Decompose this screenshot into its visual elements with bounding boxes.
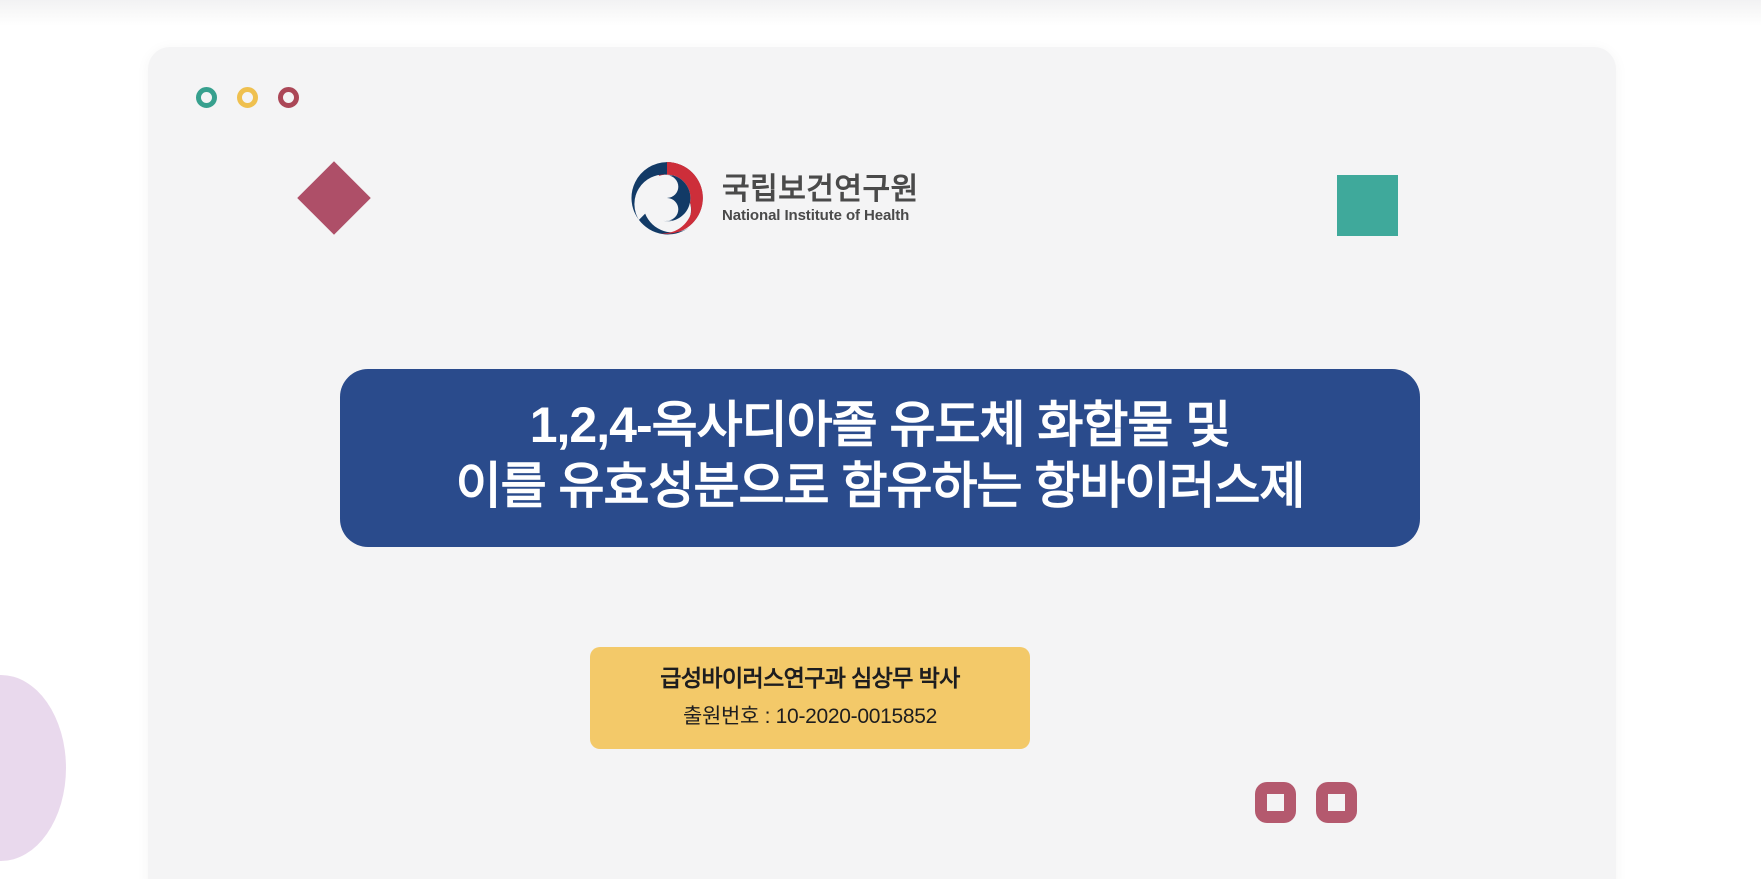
window-dots-group [196, 87, 299, 108]
window-dot-maroon-icon[interactable] [278, 87, 299, 108]
organization-logo-text: 국립보건연구원 National Institute of Health [722, 173, 919, 224]
organization-logo: 국립보건연구원 National Institute of Health [628, 159, 919, 237]
author-name: 급성바이러스연구과 심상무 박사 [610, 664, 1010, 693]
taegeuk-logo-icon [628, 159, 706, 237]
slide-title-plate: 1,2,4-옥사디아졸 유도체 화합물 및 이를 유효성분으로 함유하는 항바이… [340, 369, 1420, 547]
top-gradient-band [0, 0, 1761, 26]
stop-square-2-icon [1316, 782, 1357, 823]
slide-title-line-1: 1,2,4-옥사디아졸 유도체 화합물 및 [360, 395, 1400, 456]
application-number: 출원번호 : 10-2020-0015852 [610, 700, 1010, 730]
slide-title-line-2: 이를 유효성분으로 함유하는 항바이러스제 [360, 456, 1400, 517]
window-dot-teal-icon[interactable] [196, 87, 217, 108]
stop-square-1-inner [1267, 794, 1284, 811]
window-dot-amber-icon[interactable] [237, 87, 258, 108]
author-info-plate: 급성바이러스연구과 심상무 박사 출원번호 : 10-2020-0015852 [590, 647, 1030, 749]
stop-squares-group [1255, 782, 1357, 823]
stop-square-1-icon [1255, 782, 1296, 823]
diamond-shape-icon [297, 161, 371, 235]
organization-name-en: National Institute of Health [722, 207, 919, 224]
organization-name-kr: 국립보건연구원 [722, 173, 919, 206]
slide-card: 국립보건연구원 National Institute of Health 1,2… [148, 47, 1616, 879]
lavender-circle-shape [0, 675, 66, 861]
presentation-slide-canvas: 국립보건연구원 National Institute of Health 1,2… [0, 0, 1761, 879]
stop-square-2-inner [1328, 794, 1345, 811]
teal-square-shape-icon [1337, 175, 1398, 236]
